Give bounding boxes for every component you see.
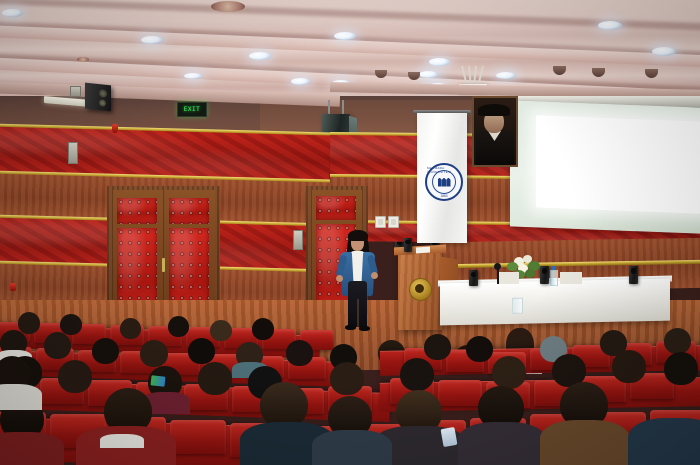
ceiling-light	[429, 58, 450, 66]
podium-crest-icon	[409, 278, 432, 301]
audience-member-front	[388, 390, 452, 465]
head	[424, 334, 451, 360]
table-chair[interactable]	[560, 272, 582, 284]
wall-handle-plate	[68, 142, 78, 164]
mobile-phone-screen[interactable]	[151, 375, 166, 386]
ceiling-light	[419, 71, 438, 78]
audience-member-front	[552, 382, 616, 465]
shoulders	[628, 418, 700, 465]
podium-microphone-unit	[404, 238, 412, 252]
audience-member	[322, 396, 378, 465]
head	[286, 340, 313, 366]
mobile-phone-screen[interactable]	[441, 427, 458, 447]
collar	[100, 434, 144, 448]
head	[168, 316, 189, 337]
head	[58, 360, 92, 393]
audience-member-front	[256, 382, 316, 465]
projection-screen	[510, 100, 700, 233]
door-padding-upper	[316, 196, 356, 220]
speaker-podium	[398, 252, 442, 330]
head	[252, 318, 274, 340]
presenter-hand-right	[371, 272, 378, 279]
wall-loudspeaker	[85, 83, 111, 112]
ceiling-light	[249, 52, 271, 60]
table-microphone-head	[494, 263, 501, 270]
audience-member	[252, 318, 276, 340]
table-loudspeaker	[629, 266, 638, 284]
head	[188, 338, 215, 364]
ceiling-light	[652, 47, 676, 56]
ceiling-vent	[211, 1, 245, 12]
ceiling-light	[496, 72, 516, 79]
head	[466, 336, 493, 362]
door-padding-upper	[117, 198, 157, 224]
wall-handle-plate	[293, 230, 303, 250]
auditorium-photo: EXIT	[0, 0, 700, 465]
audience-member	[44, 332, 74, 362]
table-loudspeaker	[469, 270, 478, 286]
ceiling-light	[184, 73, 202, 79]
audience-member	[286, 340, 316, 370]
audience-member	[92, 338, 122, 368]
audience-member	[168, 316, 192, 338]
flower-leaf	[525, 269, 535, 278]
head	[92, 338, 119, 364]
head	[664, 328, 691, 354]
university-seal: MARMARA ÜNİVERSİTESİ 1883	[425, 163, 463, 201]
ceiling-projector-mount	[455, 66, 491, 86]
audience-member	[120, 318, 144, 340]
ceiling-light	[291, 78, 310, 85]
exit-sign-label: EXIT	[184, 107, 200, 113]
shoulders	[458, 422, 546, 465]
ataturk-portrait	[472, 96, 518, 167]
seat-back[interactable]	[170, 420, 226, 454]
presenter-shoe	[359, 326, 370, 331]
audience-member	[0, 356, 40, 408]
head	[140, 340, 168, 367]
water-bottle	[550, 270, 558, 286]
shoulders	[540, 420, 630, 465]
presenter-hand-left	[336, 275, 343, 282]
ceiling-vent	[77, 57, 89, 62]
flower-vase	[512, 298, 523, 314]
head	[492, 356, 526, 389]
head	[400, 358, 434, 391]
fire-alarm-call-point	[10, 283, 16, 291]
presenter-hair-front	[348, 230, 368, 241]
audience-member	[198, 362, 236, 400]
ceiling-light	[141, 36, 163, 44]
ceiling-light	[598, 21, 622, 30]
presenter-shoe	[345, 325, 356, 330]
audience-member	[58, 360, 96, 398]
presenter-leg-gap	[357, 299, 359, 327]
head	[120, 318, 141, 339]
shoulders	[0, 432, 64, 465]
head	[330, 362, 364, 395]
seal-monogram-icon	[438, 178, 451, 187]
audience-member	[330, 362, 368, 400]
fire-alarm-call-point	[112, 124, 118, 133]
head	[44, 332, 71, 359]
exit-sign: EXIT	[177, 102, 207, 117]
presenter	[335, 227, 381, 332]
wall-junction-box	[70, 86, 81, 97]
podium-paper	[416, 247, 430, 254]
seal-year-label: 1883	[427, 194, 461, 198]
audience-member-front	[470, 386, 532, 465]
shoulders	[0, 384, 42, 410]
audience-member-front	[96, 388, 158, 465]
door-padding-upper	[169, 198, 209, 224]
water-bottle-cap	[551, 266, 555, 270]
head	[198, 362, 232, 395]
audience-member-front	[636, 378, 700, 465]
wall-socket[interactable]	[388, 216, 399, 228]
university-banner: MARMARA ÜNİVERSİTESİ 1883	[417, 113, 467, 243]
ceiling-light	[2, 9, 23, 17]
ceiling-light	[334, 32, 356, 40]
shoulders	[312, 430, 392, 465]
projected-image-area	[536, 115, 700, 214]
door-handle-icon[interactable]	[162, 258, 165, 272]
table-loudspeaker	[540, 266, 549, 284]
table-chair[interactable]	[499, 272, 519, 284]
